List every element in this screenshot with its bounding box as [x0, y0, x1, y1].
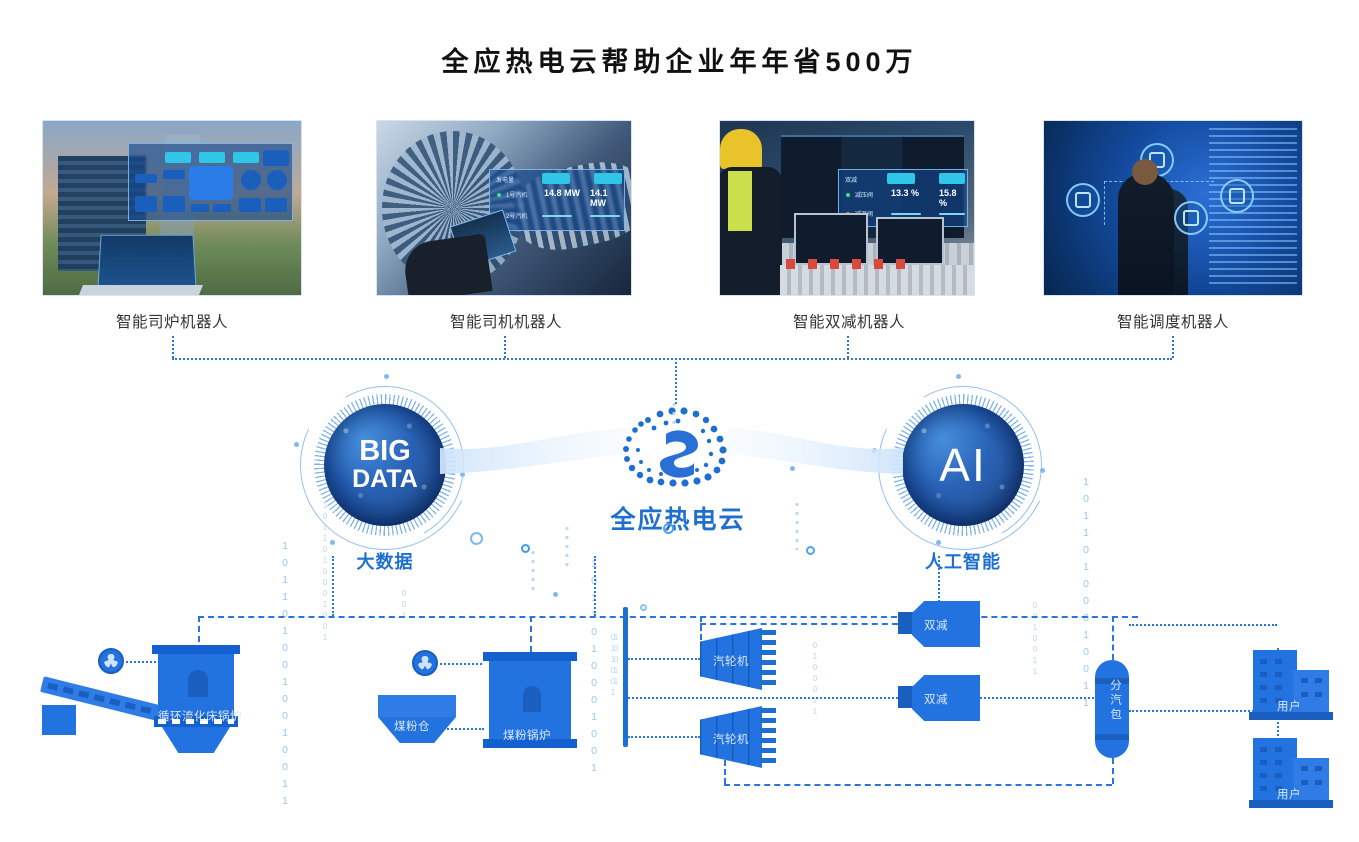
hud2-row2-name: 2号汽机: [506, 211, 527, 220]
big-data-line2: DATA: [352, 467, 418, 493]
connector-thumb3-down: [847, 336, 849, 358]
hud3-row1-name: 减压阀: [855, 190, 873, 199]
deco-bubble-2: [521, 544, 530, 553]
binary-stream-boiler: 10011: [611, 632, 621, 687]
big-data-orb: BIG DATA: [324, 404, 446, 526]
binary-stream-left-outer: 10110100 10010011: [280, 538, 290, 810]
thumbnail-caption-1: 智能司炉机器人: [42, 310, 302, 332]
hud3-row1-opt: 15.8 %: [939, 188, 967, 208]
steam-header-bar: [623, 607, 628, 747]
valve-1-label: 双减: [924, 617, 948, 633]
deco-dot-2: [790, 466, 795, 471]
connector-header-turbine2: [628, 736, 700, 738]
hud2-row1-opt: 14.1 MW: [590, 188, 624, 208]
thumbnail-image-1: [42, 120, 302, 296]
ai-text: AI: [939, 442, 986, 489]
cfb-boiler[interactable]: [150, 645, 242, 755]
binary-stream-right-mid: 0100011: [810, 640, 820, 717]
connector-cloud-down: [594, 556, 596, 616]
hud3-row1-cur: 13.3 %: [891, 188, 919, 198]
thumbnail-card-1[interactable]: 智能司炉机器人: [42, 120, 302, 332]
thumbnail-image-4: [1043, 120, 1303, 296]
turbine-2-label: 汽轮机: [713, 731, 749, 747]
hud-panel-2: 发电量 1号汽机 14.8 MW 14.1 MW 2号汽机: [489, 169, 625, 231]
big-data-line1: BIG: [352, 437, 418, 467]
cloud-logo[interactable]: [608, 404, 748, 500]
deco-bubble-5: [640, 604, 647, 611]
hud2-row1-cur: 14.8 MW: [544, 188, 580, 198]
binary-stream-right-outer: 10110100 010011: [1081, 474, 1091, 712]
thumbnail-card-3[interactable]: 双减 减压阀 13.3 % 15.8 % 减温阀 智能双减机器人: [719, 120, 979, 332]
connector-thumb1-down: [172, 336, 174, 358]
conveyor-end-block: [42, 705, 76, 735]
process-line-middle: [628, 697, 1098, 699]
thumbnail-card-4[interactable]: 智能调度机器人: [1043, 120, 1303, 332]
turbine-1-label: 汽轮机: [713, 653, 749, 669]
monitor-icon: [1220, 179, 1254, 213]
connector-bigdata-down: [332, 556, 334, 616]
connector-bus-to-cloud: [675, 358, 677, 404]
thumbnail-caption-4: 智能调度机器人: [1043, 310, 1303, 332]
fan-icon-1: [98, 648, 124, 674]
hud3-title: 双减: [845, 175, 857, 184]
deco-bubble-3: [663, 523, 674, 534]
ai-label: 人工智能: [878, 548, 1048, 574]
process-bus-lower: [724, 784, 1112, 786]
connector-fan2-boiler: [440, 663, 482, 665]
thumbnail-image-2: 发电量 1号汽机 14.8 MW 14.1 MW 2号汽机: [376, 120, 632, 296]
deco-dotcol-2: [565, 524, 569, 570]
thumbnail-caption-2: 智能司机机器人: [376, 310, 636, 332]
process-bus-upper: [198, 616, 1138, 618]
connector-drum-down: [1112, 758, 1114, 784]
page-title: 全应热电云帮助企业年年省500万: [0, 40, 1359, 79]
coal-bin-label: 煤粉仓: [394, 718, 430, 734]
cfb-boiler-label: 循环流化床锅炉: [158, 708, 242, 724]
pc-boiler-label: 煤粉锅炉: [503, 727, 551, 743]
connector-header-turbine1: [628, 658, 700, 660]
user-1-label: 用户: [1277, 698, 1301, 714]
thumbnail-card-2[interactable]: 发电量 1号汽机 14.8 MW 14.1 MW 2号汽机 智能司机机器人: [376, 120, 636, 332]
ai-hub[interactable]: AI: [878, 380, 1048, 550]
connector-thumb-bus: [172, 358, 1172, 360]
steam-drum-label: 分汽包: [1107, 679, 1123, 723]
user-2-label: 用户: [1277, 786, 1301, 802]
hud2-row1-name: 1号汽机: [506, 190, 527, 199]
deco-bubble-1: [470, 532, 483, 545]
binary-stream-valve: 0010011: [1030, 600, 1040, 677]
cloud-dots-icon: [608, 404, 748, 500]
chart-search-icon: [1066, 183, 1100, 217]
hud-panel-1: [128, 143, 293, 221]
hud2-title: 发电量: [496, 175, 514, 184]
connector-pcboiler-up: [530, 616, 532, 652]
infographic-root: 全应热电云帮助企业年年省500万: [0, 0, 1359, 842]
connector-turbine1-valve1: [700, 623, 898, 625]
binary-stream-left-inner: 10110100 01001: [320, 500, 330, 643]
valve-2-label: 双减: [924, 691, 948, 707]
thumbnail-image-3: 双减 减压阀 13.3 % 15.8 % 减温阀: [719, 120, 975, 296]
thumbnail-caption-3: 智能双减机器人: [719, 310, 979, 332]
deco-dotcol-4: [795, 500, 799, 550]
deco-dot-1: [553, 592, 558, 597]
fan-icon-2: [412, 650, 438, 676]
connector-drum-up: [1112, 616, 1114, 660]
deco-bubble-4: [806, 546, 815, 555]
connector-thumb4-down: [1172, 336, 1174, 358]
connector-bus-user1: [1129, 624, 1277, 626]
deco-dotcol-1: [531, 548, 535, 594]
ai-orb: AI: [902, 404, 1024, 526]
connector-thumb2-down: [504, 336, 506, 358]
deco-dotcol-3: [672, 400, 676, 428]
cloud-label: 全应热电云: [560, 500, 796, 536]
